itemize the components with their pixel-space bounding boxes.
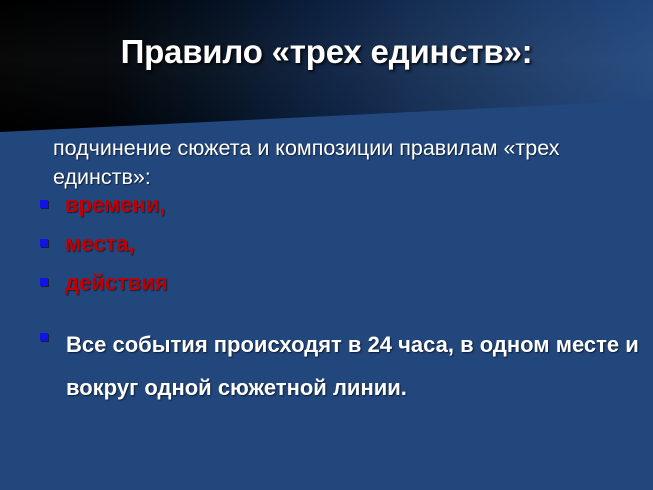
blue-square-bullet-icon bbox=[40, 239, 48, 247]
page-title: Правило «трех единств»: bbox=[0, 33, 653, 71]
list-item-label: места, bbox=[65, 232, 135, 256]
list-item: времени, bbox=[40, 193, 165, 217]
blue-square-bullet-icon bbox=[40, 278, 48, 286]
summary-list-item-label: Все события происходят в 24 часа, в одно… bbox=[66, 323, 640, 409]
blue-square-bullet-icon bbox=[40, 200, 48, 208]
list-item: места, bbox=[40, 232, 135, 256]
blue-square-bullet-icon bbox=[40, 333, 48, 341]
summary-list-item: Все события происходят в 24 часа, в одно… bbox=[40, 323, 640, 409]
list-item-label: действия bbox=[65, 271, 168, 295]
list-item: действия bbox=[40, 271, 168, 295]
list-item-label: времени, bbox=[65, 193, 165, 217]
intro-paragraph: подчинение сюжета и композиции правилам … bbox=[31, 134, 643, 192]
slide-body: подчинение сюжета и композиции правилам … bbox=[0, 130, 653, 490]
slide: Правило «трех единств»: подчинение сюжет… bbox=[0, 0, 653, 490]
